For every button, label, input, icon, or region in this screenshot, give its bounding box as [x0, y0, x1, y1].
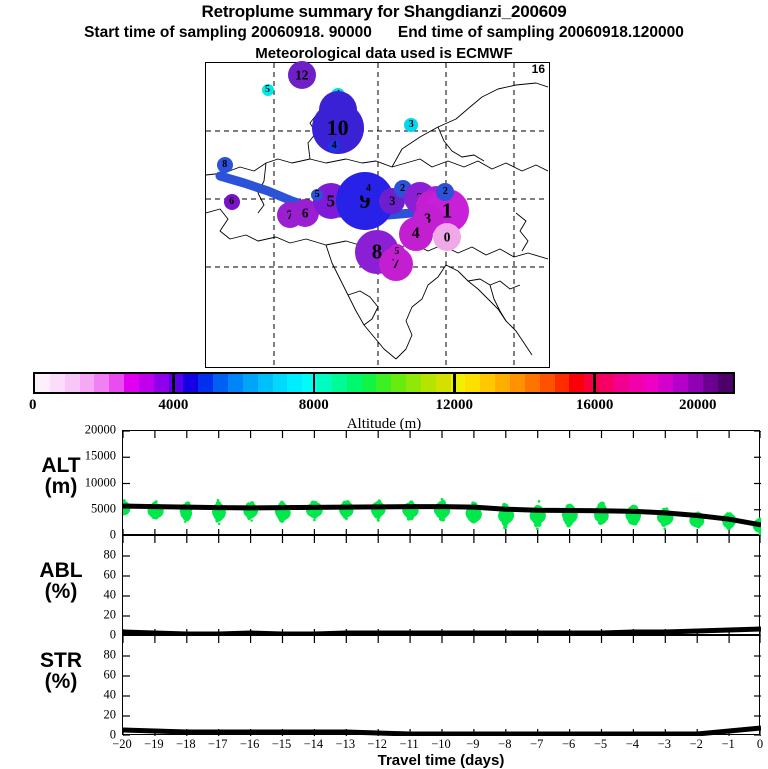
str-chart — [122, 635, 760, 735]
colorbar-swatch — [50, 374, 65, 392]
y-tick-label: 60 — [4, 568, 116, 583]
scatter-point — [471, 501, 475, 505]
colorbar-swatch — [510, 374, 525, 392]
x-tick-label: 0 — [740, 737, 768, 752]
colorbar-swatch — [154, 374, 169, 392]
colorbar-tick: 16000 — [565, 397, 625, 414]
colorbar-swatch — [465, 374, 480, 392]
scatter-point — [217, 501, 221, 505]
colorbar-swatch — [688, 374, 703, 392]
colorbar-tick: 8000 — [284, 397, 344, 414]
colorbar-swatch — [198, 374, 213, 392]
colorbar-swatch — [658, 374, 673, 392]
chart-canvas — [123, 431, 761, 536]
retroplume-bubble-label: 5 — [327, 192, 336, 209]
retroplume-bubble-label: 5 — [394, 247, 399, 257]
colorbar-swatch — [347, 374, 362, 392]
retroplume-bubble-label: 2 — [443, 187, 448, 197]
y-tick-label: 80 — [4, 548, 116, 563]
retroplume-bubble-label: 3 — [389, 195, 395, 207]
scatter-point — [601, 502, 605, 506]
colorbar-swatch — [673, 374, 688, 392]
colorbar-swatch — [183, 374, 198, 392]
retroplume-bubble-label: 6 — [302, 206, 309, 219]
colorbar-swatch — [525, 374, 540, 392]
retroplume-bubble-label: 4 — [366, 184, 371, 194]
scatter-point — [278, 514, 285, 521]
retroplume-bubble-label: 3 — [409, 120, 414, 130]
colorbar-swatch — [362, 374, 377, 392]
colorbar-swatch — [228, 374, 243, 392]
colorbar-separator — [313, 372, 316, 394]
scatter-point — [597, 513, 607, 523]
colorbar-swatch — [644, 374, 659, 392]
colorbar-swatch — [718, 374, 733, 392]
y-tick-label: 80 — [4, 648, 116, 663]
colorbar-swatch — [243, 374, 258, 392]
retroplume-bubble-label: 12 — [295, 68, 308, 81]
y-tick-label: 5000 — [4, 501, 116, 516]
retroplume-bubble-label: 10 — [327, 117, 349, 139]
y-tick-label: 20000 — [4, 423, 116, 438]
scatter-point — [563, 513, 573, 523]
scatter-point — [663, 527, 666, 530]
colorbar-swatch — [599, 374, 614, 392]
start-time-label: Start time of sampling 20060918. 90000 — [84, 24, 372, 41]
meteo-data-label: Meteorological data used is ECMWF — [0, 45, 768, 62]
scatter-point — [248, 514, 253, 519]
scatter-point — [377, 519, 380, 522]
scatter-point — [631, 518, 638, 525]
page-title: Retroplume summary for Shangdianzi_20060… — [0, 2, 768, 22]
colorbar-swatch — [376, 374, 391, 392]
scatter-point — [499, 510, 512, 523]
colorbar-swatch — [65, 374, 80, 392]
retroplume-bubble-label: 0 — [444, 231, 451, 244]
scatter-point — [470, 512, 480, 522]
colorbar-swatch — [169, 374, 184, 392]
colorbar-swatch — [584, 374, 599, 392]
retroplume-bubble-label: 4 — [412, 226, 420, 242]
colorbar-swatch — [35, 374, 50, 392]
chart-canvas — [123, 636, 761, 736]
colorbar-gradient — [33, 372, 735, 394]
colorbar-swatch — [480, 374, 495, 392]
colorbar-swatch — [495, 374, 510, 392]
y-tick-label: 20 — [4, 708, 116, 723]
y-tick-label: 0 — [4, 528, 116, 543]
retroplume-bubble-label: 5 — [265, 85, 270, 95]
colorbar-separator — [593, 372, 596, 394]
y-tick-label: 20 — [4, 608, 116, 623]
retroplume-bubble-label: 1 — [442, 201, 452, 222]
colorbar-swatch — [258, 374, 273, 392]
colorbar-swatch — [287, 374, 302, 392]
retroplume-bubble-label: 8 — [222, 160, 227, 170]
y-tick-label: 40 — [4, 688, 116, 703]
colorbar-swatch — [213, 374, 228, 392]
scatter-point — [536, 527, 539, 530]
colorbar-separator — [172, 372, 175, 394]
colorbar-swatch — [273, 374, 288, 392]
scatter-point — [538, 500, 541, 503]
colorbar-swatch — [555, 374, 570, 392]
colorbar-swatch — [540, 374, 555, 392]
y-tick-label: 40 — [4, 588, 116, 603]
x-axis-label: Travel time (days) — [122, 752, 760, 769]
scatter-point — [313, 519, 316, 522]
chart-canvas — [123, 536, 761, 636]
colorbar-swatch — [139, 374, 154, 392]
retroplume-map: 16 1254111043867655943232213240875 — [205, 62, 550, 368]
colorbar-tick: 4000 — [143, 397, 203, 414]
y-tick-label: 60 — [4, 668, 116, 683]
y-tick-label: 0 — [4, 728, 116, 743]
colorbar-swatch — [406, 374, 421, 392]
colorbar-swatch — [629, 374, 644, 392]
retroplume-bubble-label: 4 — [332, 141, 337, 151]
y-tick-label: 15000 — [4, 449, 116, 464]
scatter-point — [532, 511, 544, 523]
colorbar-swatch — [421, 374, 436, 392]
altitude-colorbar: 040008000120001600020000 Altitude (m) — [33, 372, 735, 394]
colorbar-tick: 0 — [29, 397, 37, 414]
colorbar-swatch — [124, 374, 139, 392]
colorbar-swatch — [94, 374, 109, 392]
alt-chart — [122, 430, 760, 535]
scatter-point — [181, 509, 191, 519]
scatter-point — [345, 517, 348, 520]
colorbar-swatch — [703, 374, 718, 392]
colorbar-swatch — [391, 374, 406, 392]
colorbar-swatch — [80, 374, 95, 392]
colorbar-swatch — [317, 374, 332, 392]
scatter-point — [154, 501, 157, 504]
y-tick-label: 10000 — [4, 475, 116, 490]
colorbar-separator — [453, 372, 456, 394]
y-tick-label: 0 — [4, 628, 116, 643]
scatter-point — [217, 499, 220, 502]
scatter-point — [503, 526, 506, 529]
scatter-point — [218, 523, 221, 526]
colorbar-tick: 12000 — [424, 397, 484, 414]
scatter-point — [123, 499, 126, 502]
sampling-time-line: Start time of sampling 20060918. 90000En… — [0, 24, 768, 42]
retroplume-bubble-label: 6 — [229, 197, 234, 207]
abl-chart — [122, 535, 760, 635]
colorbar-swatch — [109, 374, 124, 392]
retroplume-bubble-label: 5 — [315, 190, 320, 200]
map-corner-label: 16 — [532, 62, 545, 76]
scatter-point — [250, 519, 252, 521]
colorbar-swatch — [614, 374, 629, 392]
colorbar-swatch — [436, 374, 451, 392]
colorbar-swatch — [569, 374, 584, 392]
end-time-label: End time of sampling 20060918.120000 — [398, 24, 684, 41]
colorbar-tick: 20000 — [679, 397, 717, 414]
colorbar-swatch — [332, 374, 347, 392]
